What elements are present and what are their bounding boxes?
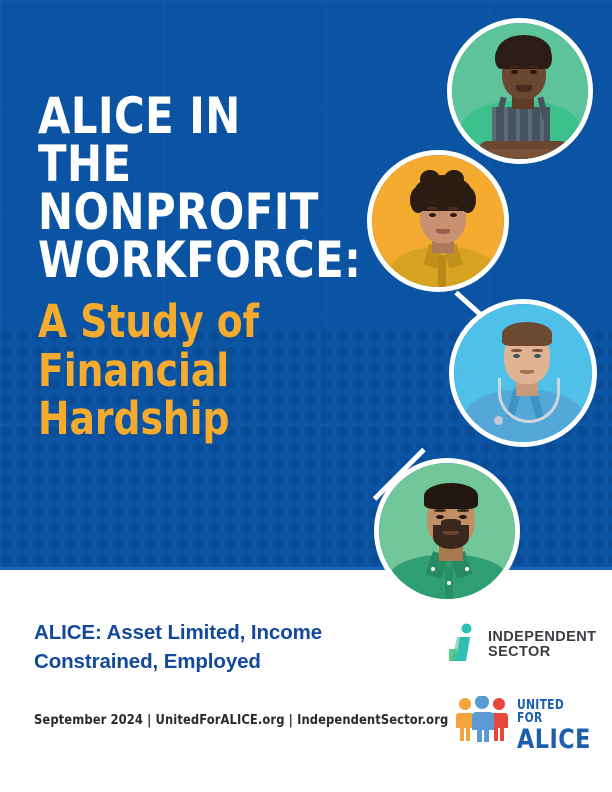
united-for-alice-wordmark: UNITED FOR ALICE: [517, 699, 600, 754]
report-cover-page: ALICE IN THE NONPROFIT WORKFORCE: A Stud…: [0, 0, 612, 792]
date-and-sources-line: September 2024 | UnitedForALICE.org | In…: [34, 712, 448, 728]
photo-circle-2: [367, 150, 509, 292]
united-for-alice-logo[interactable]: UNITED FOR ALICE: [455, 696, 600, 744]
page-title: ALICE IN THE NONPROFIT WORKFORCE:: [38, 92, 345, 284]
photo-circle-4: [374, 458, 520, 604]
independent-sector-wordmark: INDEPENDENT SECTOR: [488, 630, 596, 661]
independent-sector-mark-icon: [446, 623, 480, 668]
photo-circle-1: [447, 18, 593, 164]
ufa-united-for-text: UNITED FOR: [517, 699, 593, 725]
footer-panel: ALICE: Asset Limited, Income Constrained…: [0, 570, 612, 792]
photo-circle-3: [449, 299, 597, 447]
united-for-alice-figures-icon: [455, 729, 513, 746]
page-subtitle: A Study of Financial Hardship: [38, 298, 345, 444]
independent-sector-logo[interactable]: INDEPENDENT SECTOR: [446, 622, 596, 668]
ufa-alice-text: ALICE: [517, 726, 593, 754]
alice-acronym-text: ALICE: Asset Limited, Income Constrained…: [34, 618, 394, 676]
title-block: ALICE IN THE NONPROFIT WORKFORCE: A Stud…: [38, 92, 368, 444]
